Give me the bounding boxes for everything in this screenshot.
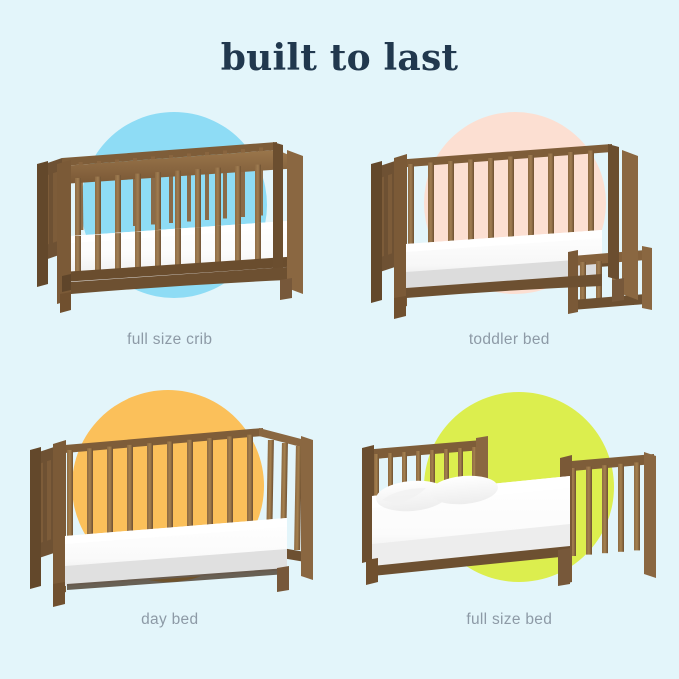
toddler-bed-illustration (354, 104, 664, 329)
product-grid: full size crib (0, 104, 679, 664)
page-title: built to last (0, 40, 679, 76)
infographic-page: built to last (0, 0, 679, 679)
panel-label: toddler bed (469, 331, 550, 349)
product-panel-toddler-bed[interactable]: toddler bed (340, 104, 679, 384)
product-panel-full-size-bed[interactable]: full size bed (340, 384, 679, 664)
panel-label: full size bed (466, 611, 552, 629)
panel-label: day bed (141, 611, 198, 629)
product-panel-day-bed[interactable]: day bed (0, 384, 340, 664)
day-bed-illustration (15, 384, 325, 609)
illustration-stage (354, 104, 664, 329)
illustration-stage (15, 384, 325, 609)
product-panel-full-size-crib[interactable]: full size crib (0, 104, 340, 384)
illustration-stage (354, 384, 664, 609)
illustration-stage (15, 104, 325, 329)
full-size-crib-illustration (15, 104, 325, 329)
panel-label: full size crib (127, 331, 212, 349)
full-size-bed-illustration (354, 384, 664, 609)
